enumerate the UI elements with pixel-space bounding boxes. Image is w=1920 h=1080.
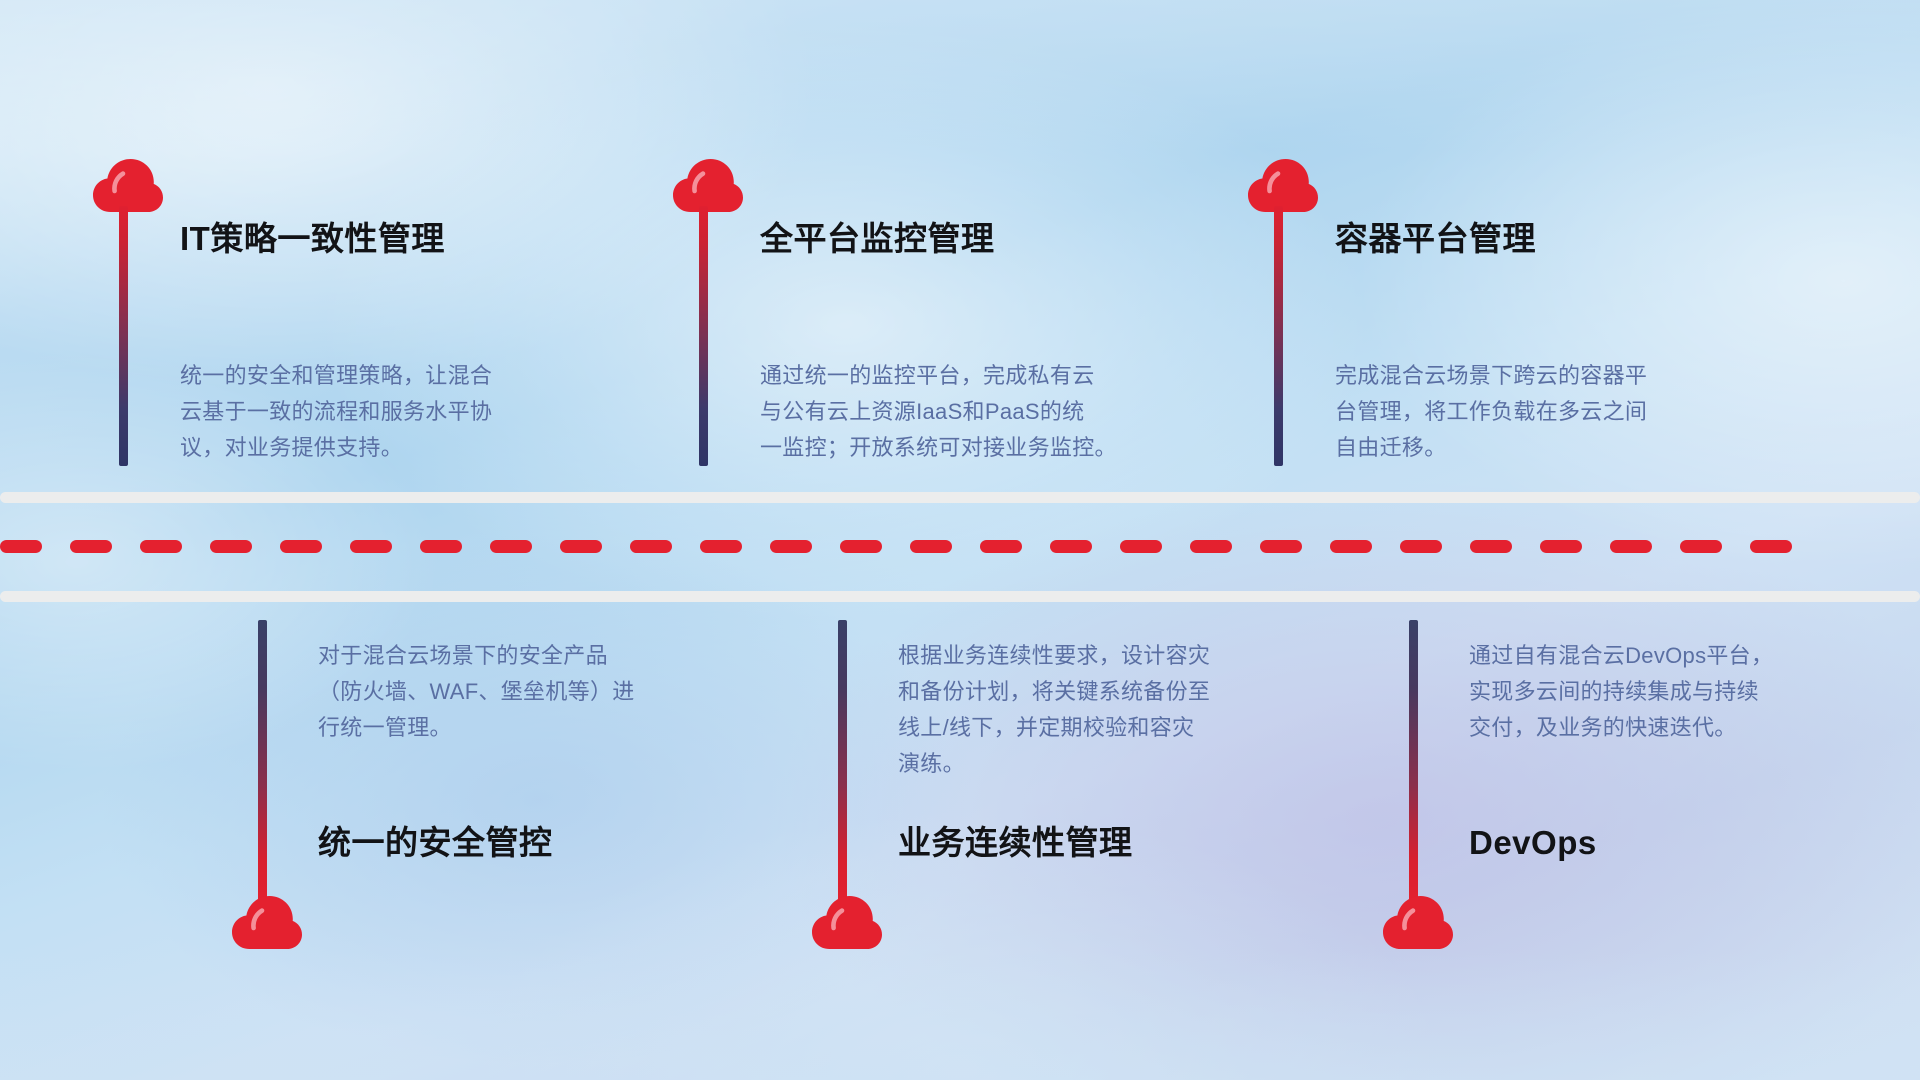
node-description: 通过统一的监控平台，完成私有云 与公有云上资源IaaS和PaaS的统 一监控；开… [760, 358, 1210, 466]
connector-stem [119, 206, 128, 466]
divider-dash [1540, 540, 1582, 553]
cloud-icon [231, 895, 303, 951]
divider-dash [1680, 540, 1722, 553]
node-title: 容器平台管理 [1335, 222, 1536, 255]
divider-dash [0, 540, 42, 553]
node-description: 根据业务连续性要求，设计容灾 和备份计划，将关键系统备份至 线上/线下，并定期校… [898, 638, 1328, 782]
divider-dash [910, 540, 952, 553]
connector-stem [1409, 620, 1418, 905]
cloud-icon [92, 158, 164, 214]
divider-rail-top [0, 492, 1920, 503]
node-title: IT策略一致性管理 [180, 222, 445, 255]
node-title: 全平台监控管理 [760, 222, 995, 255]
divider-dash [1190, 540, 1232, 553]
divider-dash [1400, 540, 1442, 553]
divider-dash [140, 540, 182, 553]
divider-dash-track [0, 540, 1920, 553]
divider-dash [840, 540, 882, 553]
divider-dash [1610, 540, 1652, 553]
node-description: 对于混合云场景下的安全产品 （防火墙、WAF、堡垒机等）进 行统一管理。 [318, 638, 748, 746]
node-title: DevOps [1469, 826, 1597, 859]
divider-dash [700, 540, 742, 553]
divider-dash [630, 540, 672, 553]
cloud-icon [811, 895, 883, 951]
divider-dash [1050, 540, 1092, 553]
cloud-icon [1382, 895, 1454, 951]
divider-dash [490, 540, 532, 553]
node-title: 统一的安全管控 [318, 826, 553, 859]
divider-dash [980, 540, 1022, 553]
divider-dash [1750, 540, 1792, 553]
infographic-canvas: IT策略一致性管理 统一的安全和管理策略，让混合 云基于一致的流程和服务水平协 … [0, 0, 1920, 1080]
connector-stem [699, 206, 708, 466]
divider-dash [560, 540, 602, 553]
divider-dash [1330, 540, 1372, 553]
divider-dash [1470, 540, 1512, 553]
connector-stem [838, 620, 847, 905]
divider-dash [1120, 540, 1162, 553]
divider-rail-bottom [0, 591, 1920, 602]
divider-dash [70, 540, 112, 553]
node-description: 完成混合云场景下跨云的容器平 台管理，将工作负载在多云之间 自由迁移。 [1335, 358, 1775, 466]
node-title: 业务连续性管理 [898, 826, 1133, 859]
dashed-divider [0, 486, 1920, 606]
cloud-icon [672, 158, 744, 214]
node-description: 统一的安全和管理策略，让混合 云基于一致的流程和服务水平协 议，对业务提供支持。 [180, 358, 610, 466]
connector-stem [1274, 206, 1283, 466]
divider-dash [350, 540, 392, 553]
cloud-icon [1247, 158, 1319, 214]
node-description: 通过自有混合云DevOps平台， 实现多云间的持续集成与持续 交付，及业务的快速… [1469, 638, 1899, 746]
divider-dash [1260, 540, 1302, 553]
connector-stem [258, 620, 267, 905]
divider-dash [420, 540, 462, 553]
divider-dash [770, 540, 812, 553]
divider-dash [210, 540, 252, 553]
divider-dash [280, 540, 322, 553]
